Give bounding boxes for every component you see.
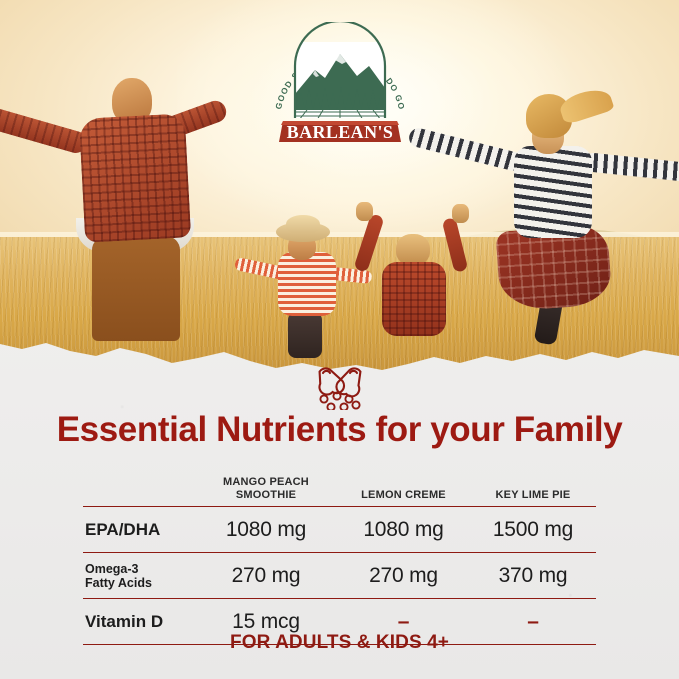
cell-vitamind-mango-peach: 15 mcg bbox=[195, 610, 337, 634]
cell-vitamind-lemon-creme: – bbox=[337, 610, 470, 634]
man-torso bbox=[79, 113, 191, 242]
barleans-logo: WE MAKE GOOD STUFF SO YOU CAN DO GOOD ST… bbox=[265, 22, 415, 147]
woman-arm-right bbox=[583, 152, 679, 182]
crossed-capsules-icon bbox=[308, 360, 372, 415]
cell-epa-dha-mango-peach: 1080 mg bbox=[195, 518, 337, 542]
row-label-vitamin-d: Vitamin D bbox=[83, 612, 195, 631]
man-legs bbox=[92, 236, 180, 341]
cell-omega3-mango-peach: 270 mg bbox=[195, 564, 337, 588]
column-header-lemon-creme: LEMON CREME bbox=[337, 489, 470, 506]
figure-woman bbox=[452, 96, 679, 336]
figure-man bbox=[20, 78, 260, 308]
boy-torso bbox=[382, 262, 446, 336]
girl-hat-crown bbox=[286, 215, 320, 233]
column-header-mango-peach-smoothie: MANGO PEACH SMOOTHIE bbox=[195, 476, 337, 506]
nutrition-panel: Essential Nutrients for your Family MANG… bbox=[0, 330, 679, 679]
girl-torso bbox=[278, 252, 336, 316]
cell-epa-dha-lemon-creme: 1080 mg bbox=[337, 518, 470, 542]
row-label-omega-3-fatty-acids: Omega-3 Fatty Acids bbox=[83, 562, 195, 590]
table-row: EPA/DHA 1080 mg 1080 mg 1500 mg bbox=[83, 507, 596, 552]
cell-vitamind-key-lime: – bbox=[470, 610, 596, 634]
woman-striped-top bbox=[514, 146, 592, 238]
logo-scene bbox=[295, 42, 385, 122]
cell-epa-dha-key-lime: 1500 mg bbox=[470, 518, 596, 542]
woman-arm-left bbox=[407, 126, 524, 172]
capsules-svg bbox=[308, 360, 372, 410]
boy-hand-left bbox=[356, 202, 373, 221]
logo-brand-name: BARLEAN'S bbox=[286, 122, 393, 142]
nutrition-table: MANGO PEACH SMOOTHIE LEMON CREME KEY LIM… bbox=[83, 466, 596, 645]
man-arm-left bbox=[0, 105, 89, 156]
woman-ponytail bbox=[557, 85, 614, 126]
logo-svg: WE MAKE GOOD STUFF SO YOU CAN DO GOOD ST… bbox=[265, 22, 415, 147]
page-title: Essential Nutrients for your Family bbox=[0, 410, 679, 450]
column-header-blank bbox=[83, 502, 195, 506]
table-header-row: MANGO PEACH SMOOTHIE LEMON CREME KEY LIM… bbox=[83, 466, 596, 506]
figure-girl bbox=[258, 222, 368, 342]
footer-note: FOR ADULTS & KIDS 4+ bbox=[0, 632, 679, 654]
table-row: Omega-3 Fatty Acids 270 mg 270 mg 370 mg bbox=[83, 553, 596, 598]
row-label-epa-dha: EPA/DHA bbox=[83, 520, 195, 539]
cell-omega3-key-lime: 370 mg bbox=[470, 564, 596, 588]
column-header-key-lime-pie: KEY LIME PIE bbox=[470, 489, 596, 506]
cell-omega3-lemon-creme: 270 mg bbox=[337, 564, 470, 588]
